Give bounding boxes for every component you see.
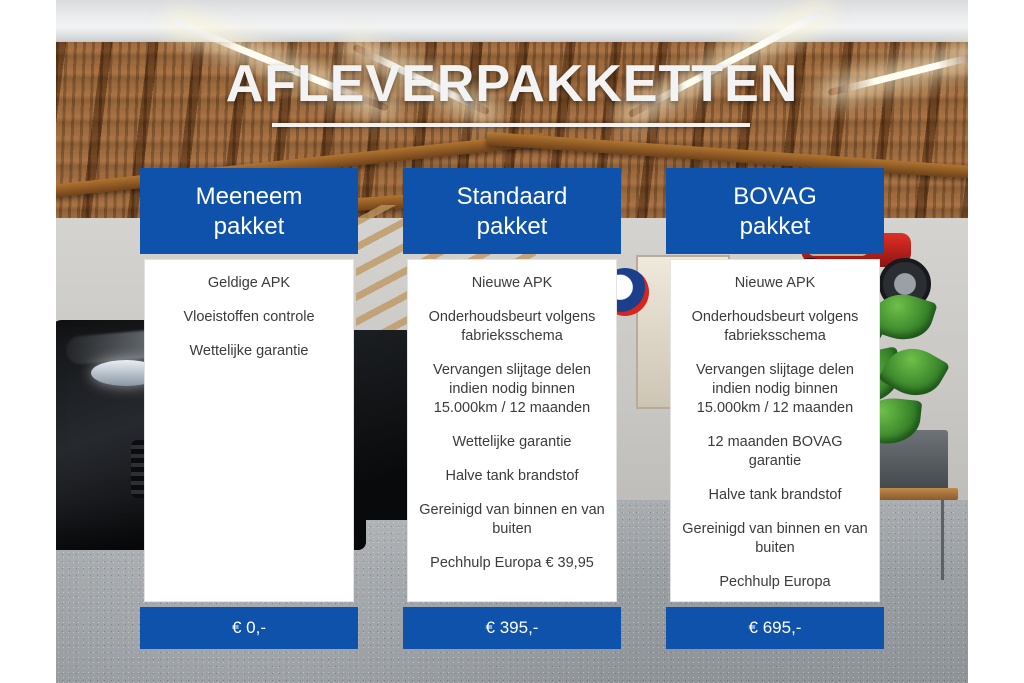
package-price[interactable]: € 395,- (403, 607, 621, 649)
package-price[interactable]: € 695,- (666, 607, 884, 649)
package-card-standaard[interactable]: Standaard pakket Nieuwe APK Onderhoudsbe… (403, 168, 621, 649)
package-price[interactable]: € 0,- (140, 607, 358, 649)
package-feature-list: Nieuwe APK Onderhoudsbeurt volgens fabri… (407, 259, 617, 602)
package-card-header: BOVAG pakket (666, 168, 884, 254)
slide-root: AFLEVERPAKKETTEN Meeneem pakket Geldige … (0, 0, 1024, 683)
package-feature-list: Nieuwe APK Onderhoudsbeurt volgens fabri… (670, 259, 880, 602)
package-card-meeneem[interactable]: Meeneem pakket Geldige APK Vloeistoffen … (140, 168, 358, 649)
package-feature: Geldige APK (155, 274, 343, 293)
package-name-line2: pakket (409, 212, 615, 242)
package-feature: Pechhulp Europa (681, 573, 869, 592)
package-feature: Vervangen slijtage delen indien nodig bi… (681, 361, 869, 418)
package-feature: Gereinigd van binnen en van buiten (418, 501, 606, 539)
package-feature: Halve tank brandstof (418, 467, 606, 486)
package-feature: Vloeistoffen controle (155, 308, 343, 327)
package-feature: Onderhoudsbeurt volgens fabrieksschema (418, 308, 606, 346)
package-feature: Vervangen slijtage delen indien nodig bi… (418, 361, 606, 418)
package-feature: Onderhoudsbeurt volgens fabrieksschema (681, 308, 869, 346)
package-feature: 12 maanden BOVAG garantie (681, 433, 869, 471)
package-name-line1: Meeneem (146, 182, 352, 212)
package-card-header: Standaard pakket (403, 168, 621, 254)
package-feature: Nieuwe APK (418, 274, 606, 293)
package-name-line2: pakket (672, 212, 878, 242)
package-feature: Halve tank brandstof (681, 486, 869, 505)
package-feature: Wettelijke garantie (418, 433, 606, 452)
package-feature-list: Geldige APK Vloeistoffen controle Wettel… (144, 259, 354, 602)
package-card-header: Meeneem pakket (140, 168, 358, 254)
package-name-line1: BOVAG (672, 182, 878, 212)
package-cards: Meeneem pakket Geldige APK Vloeistoffen … (0, 0, 1024, 683)
package-card-bovag[interactable]: BOVAG pakket Nieuwe APK Onderhoudsbeurt … (666, 168, 884, 649)
package-name-line1: Standaard (409, 182, 615, 212)
package-feature: Gereinigd van binnen en van buiten (681, 520, 869, 558)
package-feature: Pechhulp Europa € 39,95 (418, 554, 606, 573)
package-name-line2: pakket (146, 212, 352, 242)
package-feature: Wettelijke garantie (155, 342, 343, 361)
package-feature: Nieuwe APK (681, 274, 869, 293)
